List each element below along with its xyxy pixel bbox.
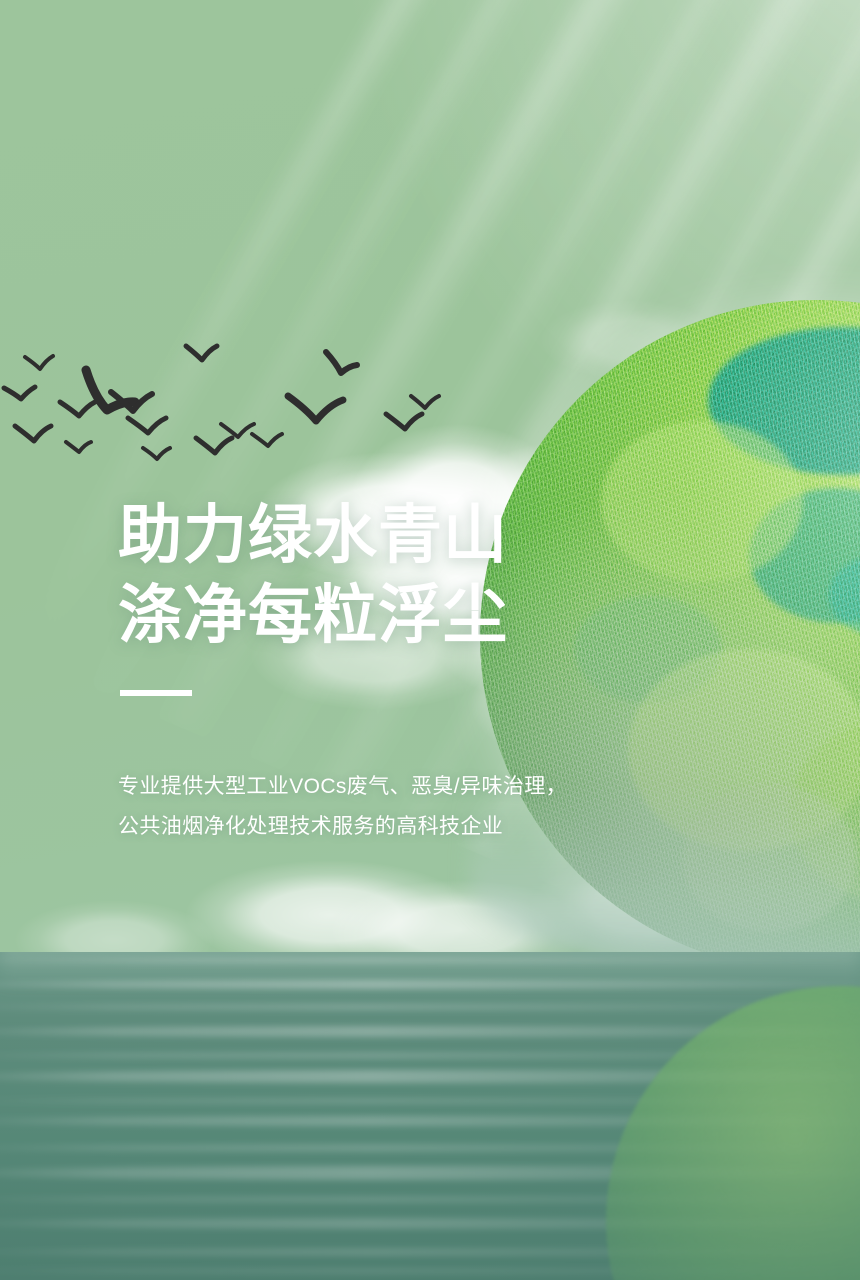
headline-line-1: 助力绿水青山 <box>118 495 508 575</box>
title-divider <box>120 690 192 696</box>
headline-line-2: 涤净每粒浮尘 <box>118 575 508 655</box>
eco-poster: 助力绿水青山 涤净每粒浮尘 专业提供大型工业VOCs废气、恶臭/异味治理， 公共… <box>0 0 860 1280</box>
subtitle-line-1: 专业提供大型工业VOCs废气、恶臭/异味治理， <box>118 767 567 807</box>
subtitle-line-2: 公共油烟净化处理技术服务的高科技企业 <box>118 807 567 847</box>
page-title: 助力绿水青山 涤净每粒浮尘 <box>118 495 508 655</box>
page-subtitle: 专业提供大型工业VOCs废气、恶臭/异味治理， 公共油烟净化处理技术服务的高科技… <box>118 767 567 847</box>
hero-copy: 助力绿水青山 涤净每粒浮尘 专业提供大型工业VOCs废气、恶臭/异味治理， 公共… <box>0 0 860 1280</box>
